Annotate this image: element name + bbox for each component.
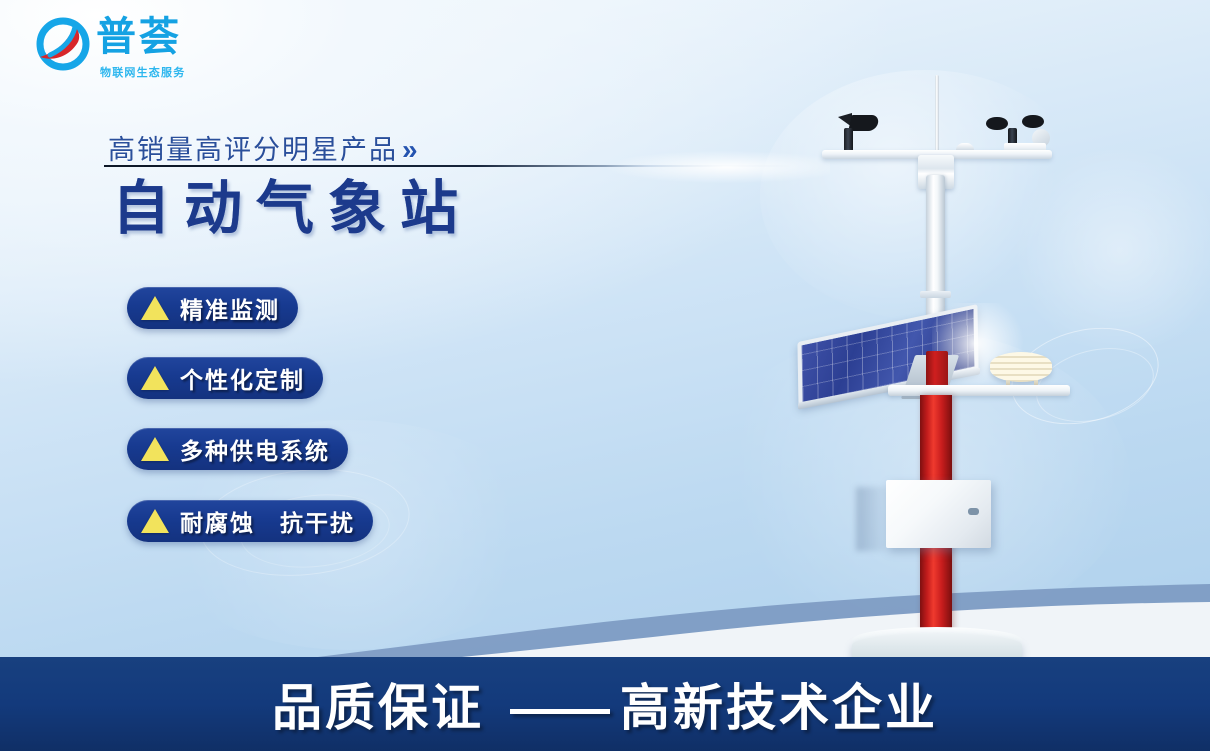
page-title: 自动气象站 <box>112 175 472 243</box>
footer-left-text: 品质保证 <box>272 680 484 736</box>
eyebrow-label: 高销量高评分明星产品 <box>108 135 398 165</box>
brand-tagline: 物联网生态服务 <box>100 64 185 80</box>
feature-pill-1[interactable]: 个性化定制 <box>127 357 323 399</box>
feature-label-0: 精准监测 <box>180 291 280 325</box>
enclosure-latch-icon <box>968 508 979 515</box>
anemometer-cup-1-icon <box>986 117 1008 130</box>
wind-vane-tail-icon <box>848 115 879 131</box>
feature-label-2: 多种供电系统 <box>180 432 330 466</box>
triangle-bullet-icon <box>141 296 169 320</box>
footer-text: 品质保证——高新技术企业 <box>272 668 938 740</box>
brand-name: 普荟 <box>96 16 182 58</box>
triangle-bullet-icon <box>141 509 169 533</box>
triangle-bullet-icon <box>141 437 169 461</box>
circle-swoosh-logo-icon <box>34 16 92 74</box>
footer-dash: —— <box>510 680 610 736</box>
wind-vane-post-icon <box>844 128 853 152</box>
feature-pill-0[interactable]: 精准监测 <box>127 287 298 329</box>
mast-joint <box>920 291 951 298</box>
anemometer-cup-2-icon <box>1022 115 1044 128</box>
promo-banner: 普荟 物联网生态服务 高销量高评分明星产品» 自动气象站 精准监测 个性化定制 … <box>0 0 1210 751</box>
instrument-mounting-plate <box>888 385 1070 396</box>
footer-bar: 品质保证——高新技术企业 <box>0 657 1210 751</box>
chevron-right-icon: » <box>402 134 420 165</box>
feature-pill-2[interactable]: 多种供电系统 <box>127 428 348 470</box>
product-image-weather-station <box>760 55 1140 655</box>
triangle-bullet-icon <box>141 366 169 390</box>
eyebrow-text: 高销量高评分明星产品» <box>108 128 420 167</box>
radiation-shield <box>990 352 1052 382</box>
divider-rule <box>104 165 820 167</box>
feature-label-3: 耐腐蚀 抗干扰 <box>180 504 355 538</box>
footer-right-text: 高新技术企业 <box>620 680 938 736</box>
brand-logo[interactable]: 普荟 物联网生态服务 <box>34 14 234 78</box>
feature-pill-3[interactable]: 耐腐蚀 抗干扰 <box>127 500 373 542</box>
feature-label-1: 个性化定制 <box>180 361 305 395</box>
